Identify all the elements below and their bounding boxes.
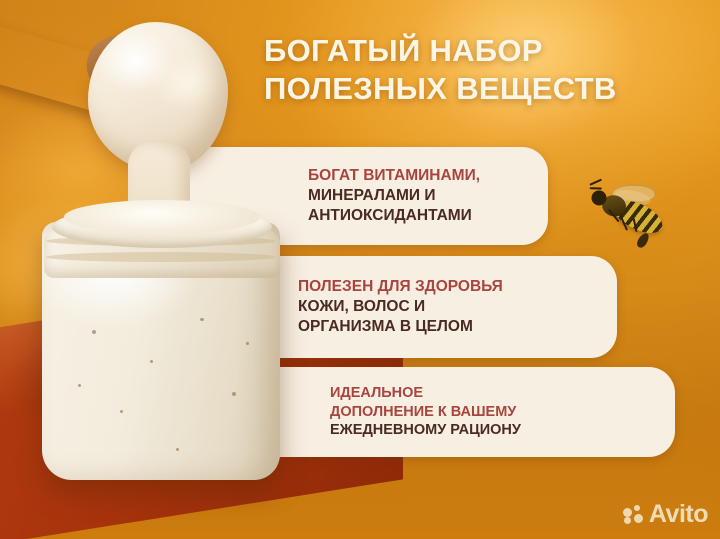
promo-banner: БОГАТЫЙ НАБОР ПОЛЕЗНЫХ ВЕЩЕСТВ БОГАТ ВИТ… [0,0,720,539]
cream-speck [120,410,123,413]
benefit-card-text: ИДЕАЛЬНОЕ ДОПОЛНЕНИЕ К ВАШЕМУ ЕЖЕДНЕВНОМ… [330,384,521,440]
cream-speck [92,330,96,334]
jar-contents [64,200,260,234]
jar-thread [46,252,276,262]
avito-wordmark: Avito [649,502,708,527]
benefit-card-text: БОГАТ ВИТАМИНАМИ, МИНЕРАЛАМИ И АНТИОКСИД… [308,166,480,225]
cream-speck [246,342,249,345]
bee-stinger [635,231,651,249]
cream-speck [200,318,204,321]
benefit-line: БОГАТ ВИТАМИНАМИ, [308,166,480,186]
benefit-line: АНТИОКСИДАНТАМИ [308,206,480,226]
benefit-line: ЕЖЕДНЕВНОМУ РАЦИОНУ [330,421,521,440]
benefit-line: ДОПОЛНЕНИЕ К ВАШЕМУ [330,403,521,422]
benefit-line: ИДЕАЛЬНОЕ [330,384,521,403]
avito-watermark: Avito [623,502,708,527]
bee-antenna [590,187,602,189]
product-photo [0,0,330,539]
cream-speck [176,448,179,451]
cream-speck [150,360,153,363]
avito-dots-icon [623,505,643,525]
cream-speck [78,384,81,387]
benefit-line: МИНЕРАЛАМИ И [308,186,480,206]
cream-speck [232,392,236,396]
